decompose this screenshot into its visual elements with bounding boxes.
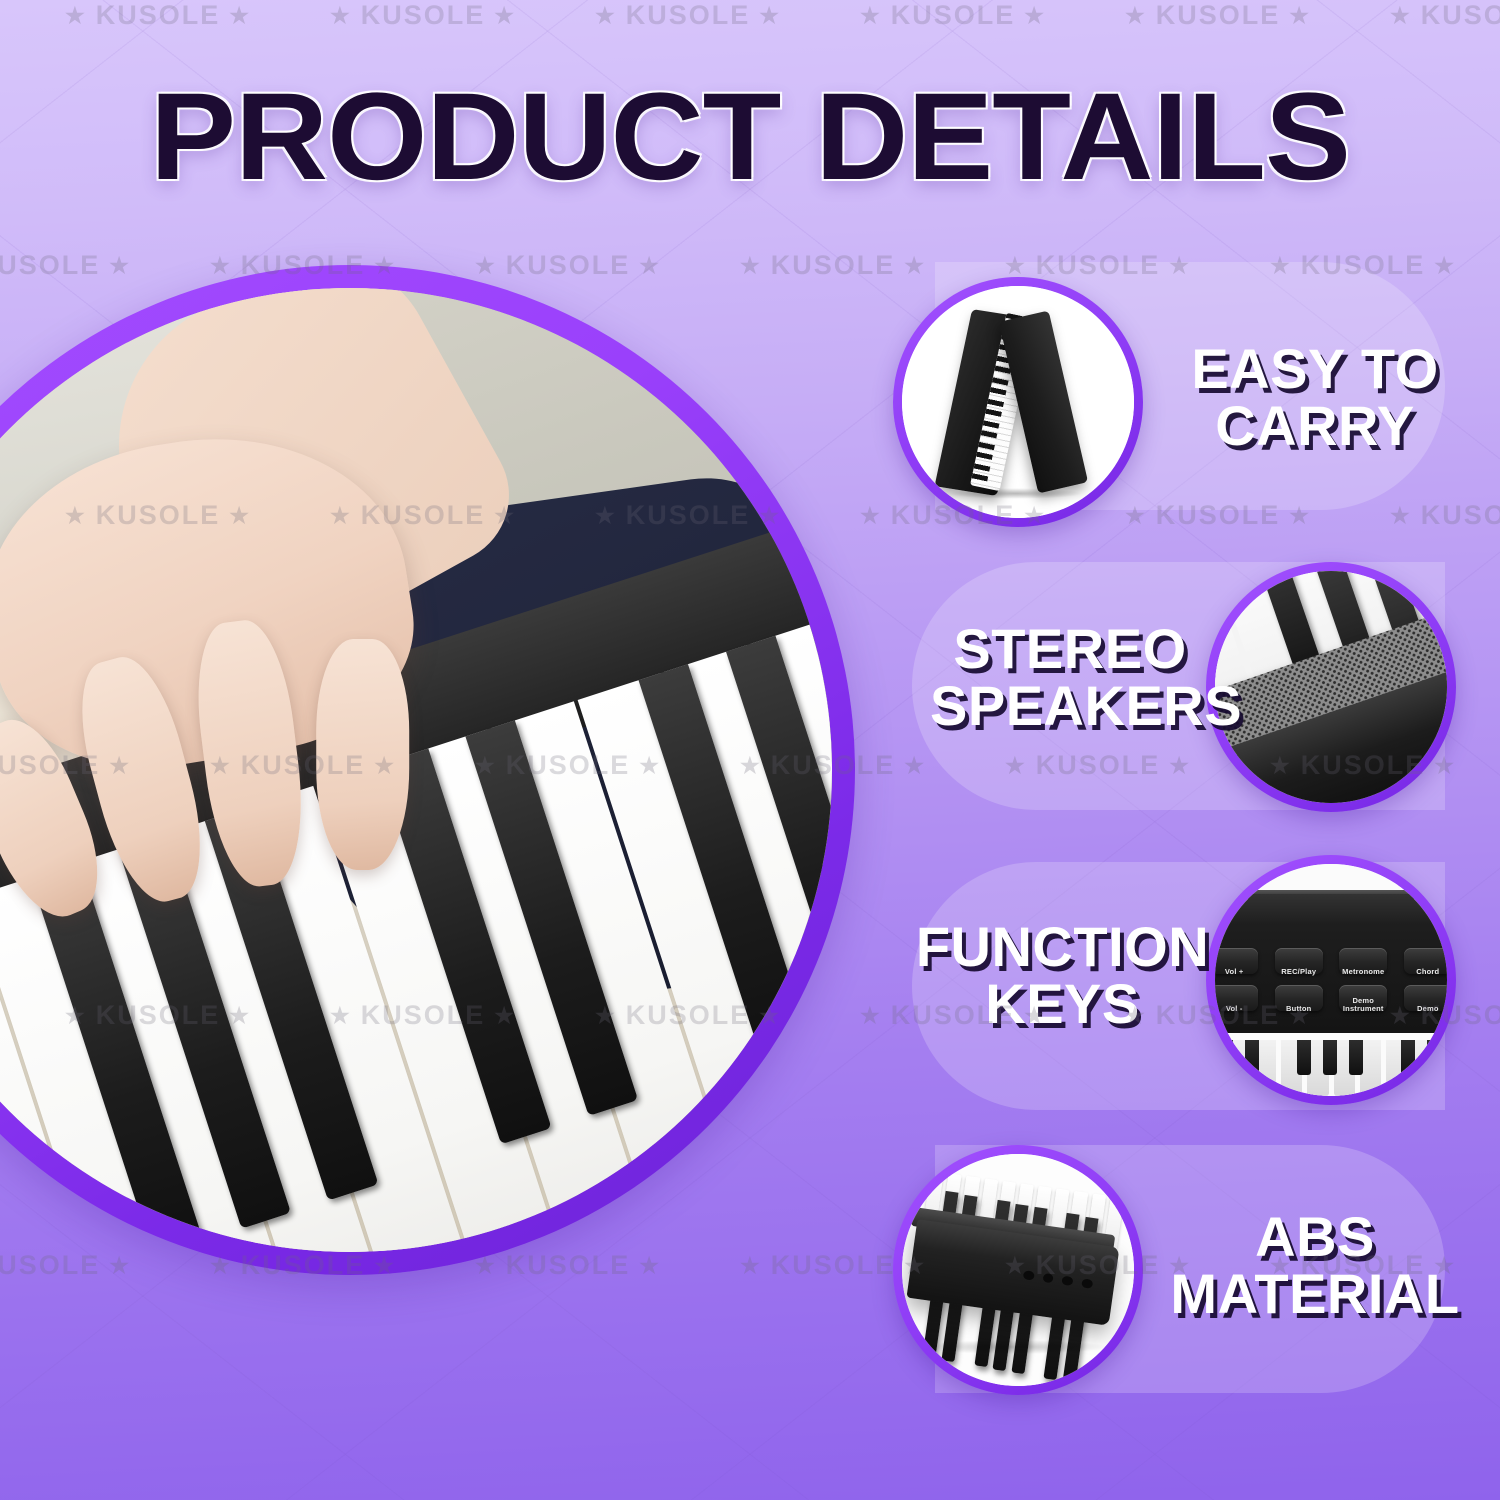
fk-btn-label: Chord bbox=[1404, 968, 1447, 976]
feature-label-abs-material: ABS MATERIAL bbox=[1150, 1208, 1480, 1322]
hero-scene bbox=[0, 288, 832, 1252]
watermark-star-icon: ★ bbox=[759, 5, 781, 27]
watermark-kusole: ★KUSOLE★ bbox=[65, 0, 330, 31]
watermark-kusole: ★KUSOLE★ bbox=[1390, 500, 1500, 531]
watermark-star-icon: ★ bbox=[1390, 505, 1412, 527]
feature-image-abs-material bbox=[893, 1145, 1143, 1395]
watermark-row: ★KUSOLE★★KUSOLE★★KUSOLE★★KUSOLE★★KUSOLE★… bbox=[0, 0, 1500, 31]
feature-label-line1: EASY TO bbox=[1150, 340, 1480, 397]
feature-label-line2: KEYS bbox=[915, 975, 1210, 1032]
watermark-kusole: ★KUSOLE★ bbox=[475, 250, 740, 281]
watermark-star-icon: ★ bbox=[210, 255, 232, 277]
watermark-star-icon: ★ bbox=[330, 5, 352, 27]
watermark-kusole: ★KUSOLE★ bbox=[595, 0, 860, 31]
function-button-row-bottom: Vol - Button Demo Instrument Demo bbox=[1215, 985, 1447, 1011]
folded-piano-icon bbox=[902, 286, 1134, 518]
watermark-kusole: ★KUSOLE★ bbox=[0, 1250, 210, 1281]
hero-image-circle bbox=[0, 265, 855, 1275]
watermark-text: KUSOLE bbox=[0, 250, 100, 281]
watermark-star-icon: ★ bbox=[904, 755, 926, 777]
abs-chassis-icon bbox=[902, 1154, 1134, 1386]
watermark-star-icon: ★ bbox=[860, 5, 882, 27]
feature-image-function-keys: Vol + REC/Play Metronome Chord Vol - But… bbox=[1206, 855, 1456, 1105]
watermark-star-icon: ★ bbox=[1289, 5, 1311, 27]
watermark-text: KUSOLE bbox=[506, 1250, 631, 1281]
watermark-star-icon: ★ bbox=[65, 5, 87, 27]
feature-label-line2: MATERIAL bbox=[1150, 1265, 1480, 1322]
speaker-grille-icon bbox=[1215, 571, 1447, 803]
watermark-kusole: ★KUSOLE★ bbox=[1125, 0, 1390, 31]
feature-label-line1: STEREO bbox=[930, 620, 1210, 677]
watermark-text: KUSOLE bbox=[626, 0, 751, 31]
watermark-star-icon: ★ bbox=[109, 255, 131, 277]
watermark-star-icon: ★ bbox=[229, 5, 251, 27]
watermark-text: KUSOLE bbox=[771, 1250, 896, 1281]
feature-label-line2: SPEAKERS bbox=[930, 677, 1210, 734]
fk-btn-label: Vol + bbox=[1215, 968, 1258, 976]
watermark-kusole: ★KUSOLE★ bbox=[0, 0, 65, 31]
watermark-star-icon: ★ bbox=[494, 5, 516, 27]
feature-label-function-keys: FUNCTION KEYS bbox=[915, 918, 1210, 1032]
watermark-star-icon: ★ bbox=[1390, 5, 1412, 27]
feature-image-stereo-speakers bbox=[1206, 562, 1456, 812]
watermark-text: KUSOLE bbox=[1421, 0, 1500, 31]
product-details-infographic: PRODUCT DETAILS bbox=[0, 0, 1500, 1500]
watermark-kusole: ★KUSOLE★ bbox=[1390, 0, 1500, 31]
feature-image-easy-to-carry bbox=[893, 277, 1143, 527]
fk-btn-label: Metronome bbox=[1339, 968, 1387, 976]
watermark-star-icon: ★ bbox=[904, 255, 926, 277]
watermark-text: KUSOLE bbox=[891, 0, 1016, 31]
watermark-star-icon: ★ bbox=[639, 1255, 661, 1277]
watermark-star-icon: ★ bbox=[740, 1255, 762, 1277]
feature-label-easy-to-carry: EASY TO CARRY bbox=[1150, 340, 1480, 454]
watermark-star-icon: ★ bbox=[1125, 5, 1147, 27]
watermark-kusole: ★KUSOLE★ bbox=[330, 0, 595, 31]
watermark-star-icon: ★ bbox=[1024, 5, 1046, 27]
watermark-star-icon: ★ bbox=[475, 255, 497, 277]
watermark-star-icon: ★ bbox=[1434, 255, 1456, 277]
watermark-star-icon: ★ bbox=[740, 255, 762, 277]
fk-btn-label: Demo bbox=[1404, 1005, 1447, 1013]
fk-btn-label: Demo Instrument bbox=[1339, 997, 1387, 1013]
feature-label-line1: ABS bbox=[1150, 1208, 1480, 1265]
watermark-star-icon: ★ bbox=[595, 5, 617, 27]
hero-photo bbox=[0, 288, 832, 1252]
watermark-text: KUSOLE bbox=[96, 0, 221, 31]
watermark-kusole: ★KUSOLE★ bbox=[0, 250, 210, 281]
function-keys-panel-icon: Vol + REC/Play Metronome Chord Vol - But… bbox=[1215, 864, 1447, 1096]
fk-btn-label: REC/Play bbox=[1275, 968, 1323, 976]
watermark-text: KUSOLE bbox=[771, 250, 896, 281]
watermark-text: KUSOLE bbox=[0, 1250, 100, 1281]
watermark-text: KUSOLE bbox=[1421, 500, 1500, 531]
page-title: PRODUCT DETAILS bbox=[0, 72, 1500, 202]
watermark-star-icon: ★ bbox=[109, 1255, 131, 1277]
feature-label-line2: CARRY bbox=[1150, 397, 1480, 454]
feature-label-line1: FUNCTION bbox=[915, 918, 1210, 975]
watermark-text: KUSOLE bbox=[361, 0, 486, 31]
function-button-row-top: Vol + REC/Play Metronome Chord bbox=[1215, 948, 1447, 974]
fk-btn-label: Button bbox=[1275, 1005, 1323, 1013]
watermark-star-icon: ★ bbox=[860, 1005, 882, 1027]
watermark-star-icon: ★ bbox=[639, 255, 661, 277]
watermark-star-icon: ★ bbox=[860, 505, 882, 527]
watermark-kusole: ★KUSOLE★ bbox=[475, 1250, 740, 1281]
fk-btn-label: Vol - bbox=[1215, 1005, 1258, 1013]
watermark-text: KUSOLE bbox=[506, 250, 631, 281]
watermark-text: KUSOLE bbox=[1156, 0, 1281, 31]
feature-label-stereo-speakers: STEREO SPEAKERS bbox=[930, 620, 1210, 734]
watermark-kusole: ★KUSOLE★ bbox=[860, 0, 1125, 31]
